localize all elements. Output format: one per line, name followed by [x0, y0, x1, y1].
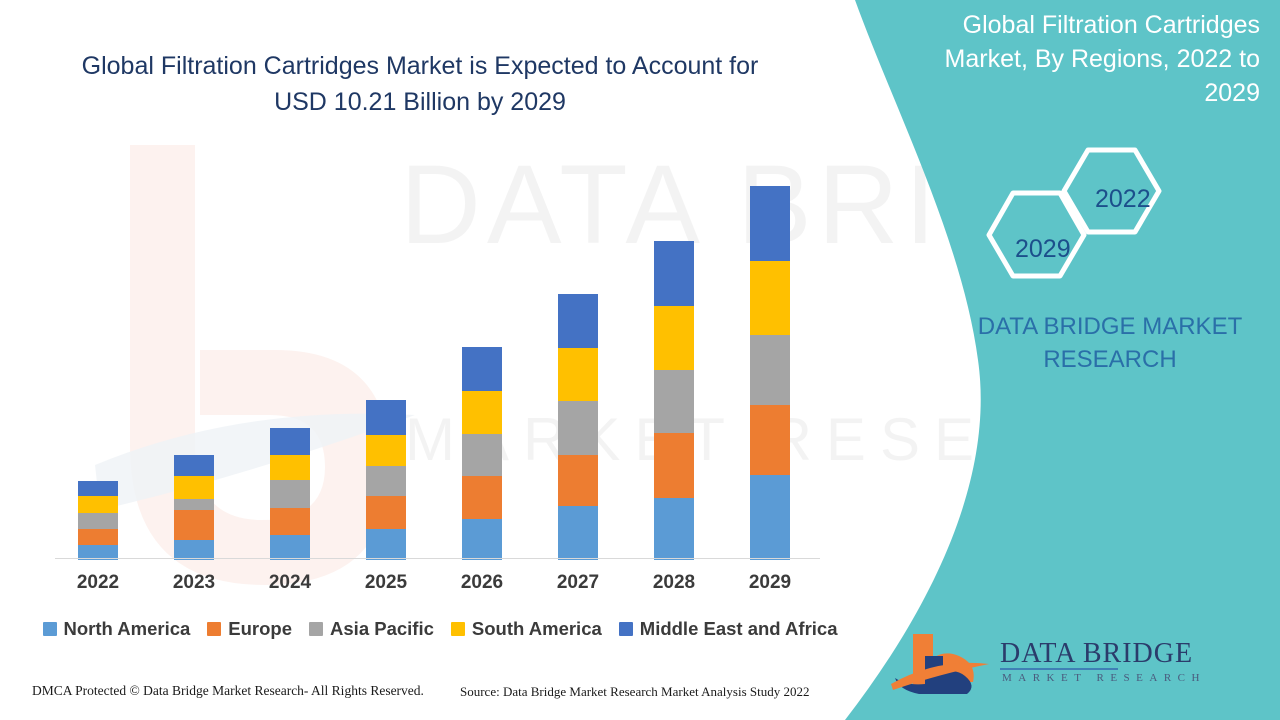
bar-stack-2027[interactable]: [558, 294, 598, 560]
x-axis-line: [55, 558, 820, 559]
logo-divider: [1000, 668, 1118, 670]
legend-item[interactable]: Middle East and Africa: [619, 618, 838, 640]
bar-stack-2024[interactable]: [270, 428, 310, 560]
bar-segment: [366, 529, 406, 560]
bar-segment: [174, 540, 214, 560]
bar-stack-2023[interactable]: [174, 455, 214, 560]
x-axis-label-2025: 2025: [351, 572, 421, 594]
legend-label: Europe: [228, 618, 292, 640]
bar-segment: [462, 434, 502, 476]
bar-segment: [654, 433, 694, 498]
bar-segment: [654, 241, 694, 306]
x-axis-label-2029: 2029: [735, 572, 805, 594]
hex-label-2022: 2022: [1095, 185, 1151, 214]
panel-title: Global Filtration Cartridges Market, By …: [905, 8, 1260, 110]
bar-segment: [174, 510, 214, 540]
bar-segment: [558, 455, 598, 506]
x-axis-label-2028: 2028: [639, 572, 709, 594]
bar-segment: [270, 535, 310, 560]
x-axis-label-2027: 2027: [543, 572, 613, 594]
hex-label-2029: 2029: [1015, 235, 1071, 264]
x-axis-label-2023: 2023: [159, 572, 229, 594]
bar-segment: [558, 401, 598, 455]
bar-segment: [366, 400, 406, 435]
bar-segment: [750, 335, 790, 405]
bar-stack-2025[interactable]: [366, 400, 406, 560]
bar-segment: [78, 513, 118, 529]
bar-segment: [78, 496, 118, 513]
legend-label: South America: [472, 618, 602, 640]
legend-item[interactable]: North America: [43, 618, 191, 640]
x-axis-label-2026: 2026: [447, 572, 517, 594]
bar-segment: [558, 294, 598, 348]
bar-segment: [462, 391, 502, 434]
stacked-bar-chart: [55, 170, 820, 560]
bar-segment: [174, 476, 214, 499]
legend-item[interactable]: Asia Pacific: [309, 618, 434, 640]
legend-label: Asia Pacific: [330, 618, 434, 640]
bar-segment: [750, 186, 790, 261]
page-title: Global Filtration Cartridges Market is E…: [60, 48, 780, 120]
brand-name: DATA BRIDGE MARKET RESEARCH: [955, 310, 1265, 376]
chart-legend: North AmericaEuropeAsia PacificSouth Ame…: [55, 614, 825, 644]
bar-stack-2029[interactable]: [750, 186, 790, 560]
bar-segment: [174, 455, 214, 476]
bar-segment: [750, 261, 790, 335]
logo-primary-text: DATA BRIDGE: [1000, 638, 1193, 670]
legend-swatch-icon: [619, 622, 633, 636]
bar-segment: [366, 496, 406, 529]
bar-segment: [750, 405, 790, 475]
bar-segment: [270, 508, 310, 535]
bar-segment: [558, 348, 598, 401]
x-axis-label-2022: 2022: [63, 572, 133, 594]
bar-segment: [654, 498, 694, 560]
hexagon-shapes-icon: [975, 145, 1185, 280]
legend-item[interactable]: Europe: [207, 618, 292, 640]
legend-swatch-icon: [43, 622, 57, 636]
legend-swatch-icon: [309, 622, 323, 636]
bar-segment: [462, 347, 502, 391]
x-axis-labels: 20222023202420252026202720282029: [55, 568, 820, 600]
logo-secondary-text: MARKET RESEARCH: [1002, 672, 1206, 684]
bar-stack-2026[interactable]: [462, 347, 502, 560]
legend-label: Middle East and Africa: [640, 618, 838, 640]
bar-segment: [654, 370, 694, 433]
bar-segment: [78, 529, 118, 545]
bar-segment: [270, 428, 310, 455]
footer-source: Source: Data Bridge Market Research Mark…: [460, 684, 809, 700]
bar-stack-2028[interactable]: [654, 241, 694, 560]
bar-segment: [558, 506, 598, 560]
hexagon-badges: 2022 2029: [975, 145, 1185, 280]
bar-segment: [462, 519, 502, 560]
legend-swatch-icon: [451, 622, 465, 636]
bar-segment: [78, 481, 118, 496]
bar-segment: [654, 306, 694, 370]
bar-segment: [366, 435, 406, 466]
legend-label: North America: [64, 618, 191, 640]
infographic-canvas: DATA BRIDGE MARKET RESEARCH Global Filtr…: [0, 0, 1280, 720]
bar-stack-2022[interactable]: [78, 481, 118, 560]
bar-segment: [270, 455, 310, 480]
bar-segment: [174, 499, 214, 510]
footer-copyright: DMCA Protected © Data Bridge Market Rese…: [32, 683, 424, 699]
bar-segment: [750, 475, 790, 560]
bar-segment: [270, 480, 310, 508]
legend-item[interactable]: South America: [451, 618, 602, 640]
x-axis-label-2024: 2024: [255, 572, 325, 594]
legend-swatch-icon: [207, 622, 221, 636]
bar-segment: [462, 476, 502, 519]
bar-segment: [366, 466, 406, 496]
